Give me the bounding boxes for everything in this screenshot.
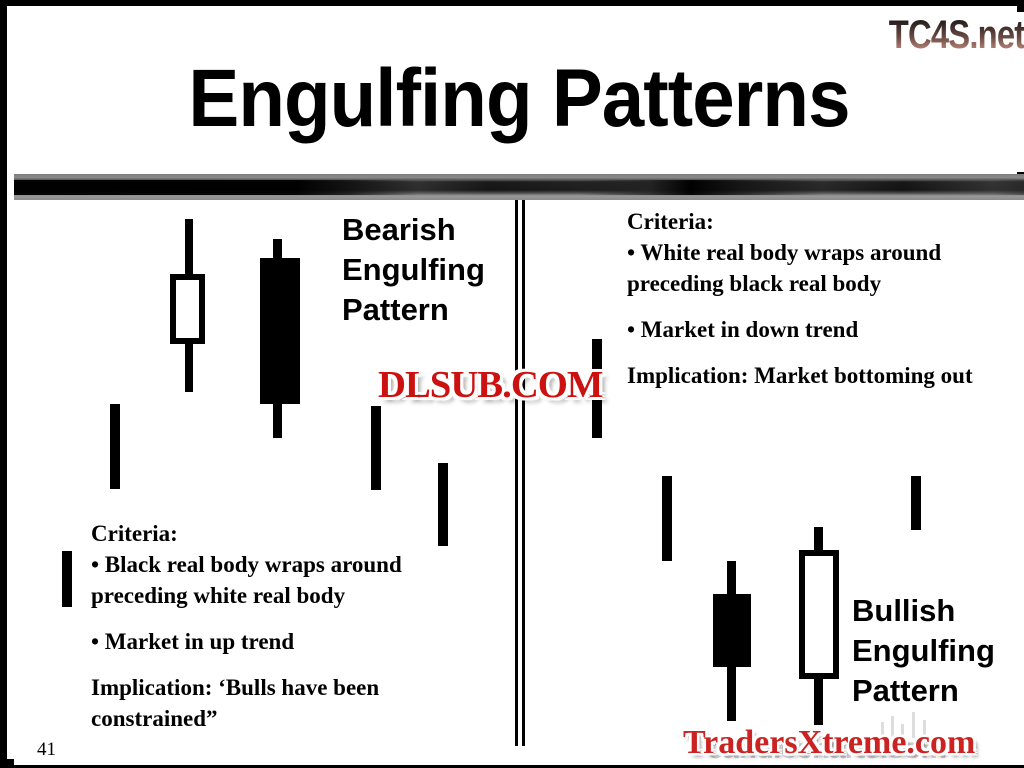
metallic-sheen — [14, 180, 1024, 195]
trend-bar — [371, 406, 381, 490]
criteria-bullet-line: preceding white real body — [91, 580, 511, 611]
trend-bar — [62, 551, 72, 607]
criteria-heading: Criteria: — [91, 518, 511, 549]
criteria-bullet-line: preceding black real body — [627, 268, 1024, 299]
watermark-tc4s: TC4S.net — [888, 14, 1024, 56]
metallic-divider-bar — [14, 174, 1024, 200]
label-bearish-engulfing-pattern: Bearish Engulfing Pattern — [342, 210, 485, 330]
slide-body: Bearish Engulfing Pattern Criteria: • Bl… — [14, 200, 1024, 765]
criteria-bearish: Criteria: • Black real body wraps around… — [91, 518, 511, 734]
spacer — [627, 299, 1024, 314]
spacer — [91, 657, 511, 672]
trend-bar — [662, 476, 672, 561]
criteria-bullet-line: • Black real body wraps around — [91, 549, 511, 580]
implication-line: Implication: Market bottoming out — [627, 360, 1024, 391]
trend-bar — [110, 404, 120, 489]
slide-frame: Engulfing Patterns TC4S.net — [0, 0, 1024, 768]
watermark-tradersxtreme: TradersXtreme.com — [683, 724, 975, 762]
pattern-label-line: Pattern — [342, 290, 485, 330]
candle-body-black — [260, 258, 300, 404]
implication-line: constrained” — [91, 703, 511, 734]
candle-body-white — [799, 550, 839, 679]
divider-line-right — [522, 200, 525, 746]
spacer — [91, 611, 511, 626]
label-bullish-engulfing-pattern: Bullish Engulfing Pattern — [852, 591, 995, 711]
pattern-label-line: Pattern — [852, 671, 995, 711]
pattern-label-line: Engulfing — [852, 631, 995, 671]
criteria-bullet-line: • White real body wraps around — [627, 237, 1024, 268]
criteria-bullet-line: • Market in up trend — [91, 626, 511, 657]
watermark-dlsub: DLSUB.COM — [378, 364, 602, 406]
title-block: Engulfing Patterns TC4S.net — [14, 12, 1024, 172]
trend-bar — [911, 476, 921, 530]
page-number: 41 — [37, 739, 56, 761]
pattern-label-line: Engulfing — [342, 250, 485, 290]
candle-body-black — [713, 594, 751, 667]
vertical-divider — [515, 200, 530, 765]
candle-body-white — [170, 274, 205, 344]
criteria-heading: Criteria: — [627, 206, 1024, 237]
spacer — [627, 345, 1024, 360]
page-title: Engulfing Patterns — [49, 56, 988, 142]
pattern-label-line: Bullish — [852, 591, 995, 631]
pattern-label-line: Bearish — [342, 210, 485, 250]
criteria-bullet-line: • Market in down trend — [627, 314, 1024, 345]
implication-line: Implication: ‘Bulls have been — [91, 672, 511, 703]
criteria-bullish: Criteria: • White real body wraps around… — [627, 206, 1024, 391]
divider-line-left — [515, 200, 518, 746]
